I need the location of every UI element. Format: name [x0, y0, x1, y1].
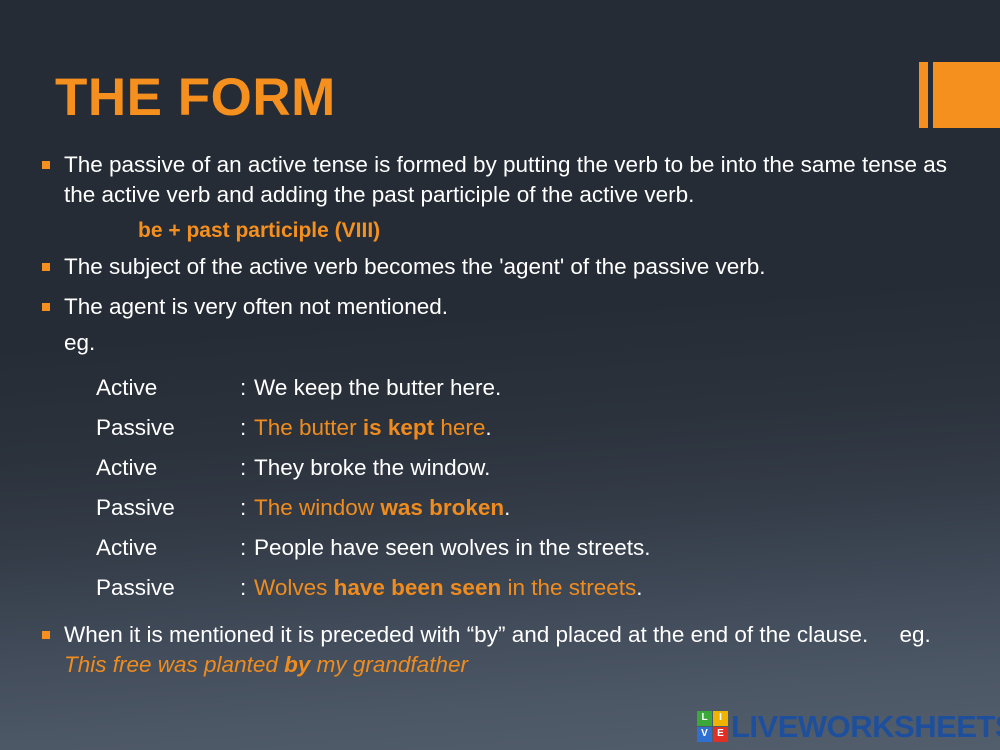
liveworksheets-logo-icon: LIVE: [697, 711, 728, 742]
example-row-label: Active: [96, 368, 240, 408]
bullet-item-2-text: The subject of the active verb becomes t…: [64, 254, 766, 279]
eg-label: eg.: [0, 328, 1000, 358]
example-bold: by: [284, 652, 310, 677]
example-row: Passive:Wolves have been seen in the str…: [96, 568, 1000, 608]
example-sentence-pre: We keep the butter here.: [254, 375, 501, 400]
liveworksheets-wordmark: LIVEWORKSHEETS: [731, 711, 1000, 742]
spacer: [0, 282, 1000, 292]
example-row-sentence: People have seen wolves in the streets.: [254, 528, 651, 568]
formula-line: be + past participle (VIII): [0, 216, 1000, 246]
logo-cell: V: [697, 727, 712, 742]
slide-body: The passive of an active tense is formed…: [0, 150, 1000, 680]
example-row: Active:They broke the window.: [96, 448, 1000, 488]
example-row-sentence: The window was broken: [254, 488, 504, 528]
logo-cell: E: [713, 727, 728, 742]
example-row: Active:People have seen wolves in the st…: [96, 528, 1000, 568]
logo-cell: L: [697, 711, 712, 726]
bullet-item-3: The agent is very often not mentioned.: [0, 292, 1000, 322]
page-title: THE FORM: [55, 70, 336, 126]
example-row-sentence: The butter is kept here: [254, 408, 485, 448]
bullet-square-icon: [42, 303, 50, 311]
example-sentence-bold: have been seen: [334, 575, 502, 600]
example-row-sentence: We keep the butter here.: [254, 368, 501, 408]
example-post: my grandfather: [310, 652, 468, 677]
spacer: [0, 358, 1000, 368]
example-sentence-post: in the streets: [501, 575, 636, 600]
example-sentence-pre: People have seen wolves in the streets.: [254, 535, 651, 560]
example-sentence-pre: They broke the window.: [254, 455, 490, 480]
example-sentence-post: here: [434, 415, 485, 440]
example-sentence-pre: The butter: [254, 415, 363, 440]
example-pre: This free was planted: [64, 652, 284, 677]
example-row-label: Passive: [96, 408, 240, 448]
bullet-item-4-eg-label: eg.: [900, 622, 931, 647]
example-sentence-bold: is kept: [363, 415, 434, 440]
liveworksheets-watermark: LIVE LIVEWORKSHEETS: [697, 706, 1000, 746]
examples-table: Active:We keep the butter here.Passive:T…: [96, 368, 1000, 608]
example-row-label: Active: [96, 448, 240, 488]
example-row: Passive:The butter is kept here.: [96, 408, 1000, 448]
example-row-sentence: Wolves have been seen in the streets: [254, 568, 636, 608]
bullet-item-4-example: This free was planted by my grandfather: [64, 652, 468, 677]
example-sentence-period: .: [485, 408, 491, 448]
example-row: Passive:The window was broken.: [96, 488, 1000, 528]
example-row-label: Active: [96, 528, 240, 568]
bullet-item-1-text: The passive of an active tense is formed…: [64, 152, 947, 207]
bullet-item-4-text: When it is mentioned it is preceded with…: [64, 622, 868, 647]
example-row-colon: :: [240, 568, 254, 608]
bullet-item-3-text: The agent is very often not mentioned.: [64, 294, 448, 319]
example-row-label: Passive: [96, 568, 240, 608]
bullet-square-icon: [42, 263, 50, 271]
example-sentence-period: .: [504, 488, 510, 528]
decoration-block-icon: [933, 62, 1000, 128]
example-row-colon: :: [240, 528, 254, 568]
example-sentence-pre: Wolves: [254, 575, 334, 600]
bullet-item-1: The passive of an active tense is formed…: [0, 150, 1000, 210]
bullet-item-2: The subject of the active verb becomes t…: [0, 252, 1000, 282]
example-sentence-period: .: [636, 568, 642, 608]
example-row-colon: :: [240, 448, 254, 488]
example-row-colon: :: [240, 488, 254, 528]
bullet-square-icon: [42, 631, 50, 639]
decoration-bar-icon: [919, 62, 928, 128]
bullet-square-icon: [42, 161, 50, 169]
example-row-colon: :: [240, 368, 254, 408]
example-sentence-pre: The window: [254, 495, 380, 520]
example-row-colon: :: [240, 408, 254, 448]
example-row-sentence: They broke the window.: [254, 448, 490, 488]
slide-canvas: THE FORM The passive of an active tense …: [0, 0, 1000, 750]
example-row-label: Passive: [96, 488, 240, 528]
bullet-item-4: When it is mentioned it is preceded with…: [0, 620, 1000, 680]
spacer: [0, 608, 1000, 620]
example-sentence-bold: was broken: [380, 495, 504, 520]
logo-cell: I: [713, 711, 728, 726]
example-row: Active:We keep the butter here.: [96, 368, 1000, 408]
